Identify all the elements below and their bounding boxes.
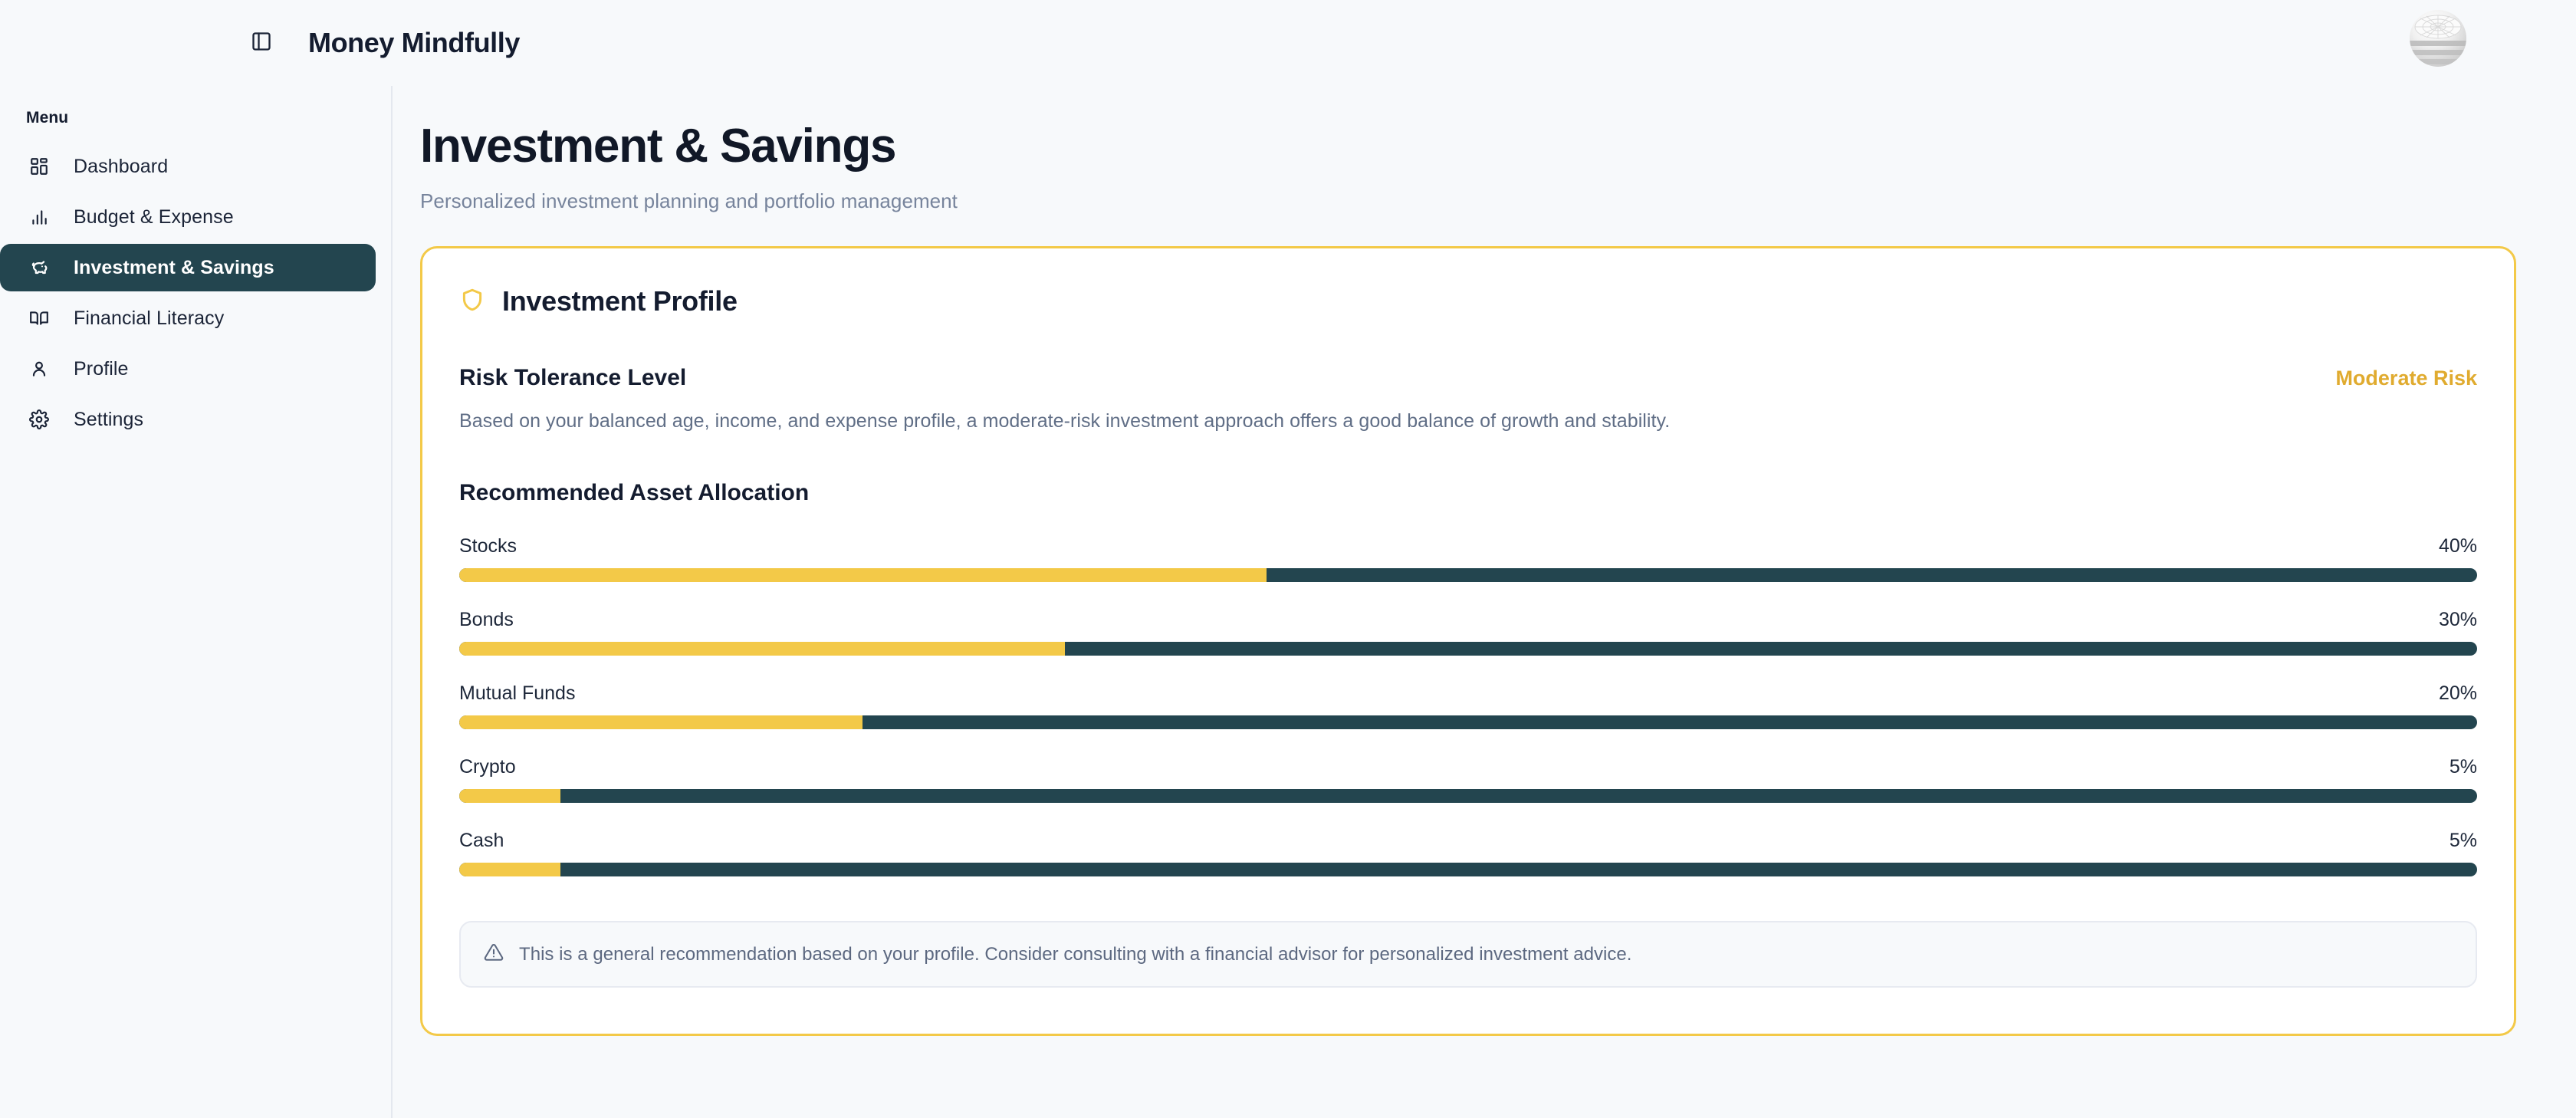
allocation-percent-value: 20% [2439,682,2477,705]
allocation-bar-fill [459,642,1065,656]
sidebar-item-profile[interactable]: Profile [0,345,376,393]
allocation-bar-track [459,568,2477,582]
allocation-asset-label: Cash [459,830,504,852]
sidebar-item-budget-expense[interactable]: Budget & Expense [0,193,376,241]
allocation-percent-value: 40% [2439,535,2477,557]
allocation-heading: Recommended Asset Allocation [459,480,2477,506]
sidebar-item-label: Settings [74,409,143,431]
disclaimer-note: This is a general recommendation based o… [459,921,2477,988]
risk-tolerance-row: Risk Tolerance Level Moderate Risk [459,365,2477,391]
sidebar: Menu Dashboard Budg [0,86,393,1118]
allocation-item: Bonds30% [459,609,2477,656]
allocation-item-header: Bonds30% [459,609,2477,631]
page-subtitle: Personalized investment planning and por… [420,189,2516,213]
sidebar-item-label: Dashboard [74,156,168,178]
sidebar-item-label: Investment & Savings [74,257,274,279]
sidebar-item-label: Budget & Expense [74,206,234,229]
allocation-percent-value: 5% [2449,756,2477,778]
allocation-bar-track [459,789,2477,803]
user-icon [26,356,52,382]
sidebar-panel-icon [251,31,272,56]
warning-triangle-icon [484,942,504,966]
allocation-bar-fill [459,568,1267,582]
card-title: Investment Profile [502,285,738,317]
allocation-item: Mutual Funds20% [459,682,2477,729]
allocation-item-header: Cash5% [459,830,2477,852]
allocation-bar-track [459,863,2477,876]
allocation-list: Stocks40%Bonds30%Mutual Funds20%Crypto5%… [459,535,2477,876]
sidebar-toggle-button[interactable] [244,25,279,61]
allocation-percent-value: 5% [2449,830,2477,852]
bar-chart-icon [26,204,52,230]
grid-icon [26,153,52,179]
sidebar-section-label: Menu [0,109,391,140]
allocation-item-header: Crypto5% [459,756,2477,778]
shield-icon [459,287,485,317]
allocation-percent-value: 30% [2439,609,2477,631]
allocation-item-header: Mutual Funds20% [459,682,2477,705]
page-layout: Menu Dashboard Budg [0,86,2576,1118]
sidebar-item-settings[interactable]: Settings [0,396,376,443]
risk-tolerance-description: Based on your balanced age, income, and … [459,410,2477,432]
risk-tolerance-heading: Risk Tolerance Level [459,365,686,391]
allocation-bar-fill [459,715,863,729]
app-title: Money Mindfully [308,27,520,59]
card-header: Investment Profile [459,279,2477,321]
allocation-item: Crypto5% [459,756,2477,803]
allocation-item: Cash5% [459,830,2477,876]
sidebar-item-dashboard[interactable]: Dashboard [0,143,376,190]
allocation-asset-label: Crypto [459,756,516,778]
user-avatar-image [2410,10,2466,67]
open-book-icon [26,305,52,331]
allocation-bar-fill [459,789,560,803]
risk-level-badge: Moderate Risk [2335,367,2477,390]
investment-profile-card: Investment Profile Risk Tolerance Level … [420,246,2516,1036]
allocation-bar-fill [459,863,560,876]
allocation-item-header: Stocks40% [459,535,2477,557]
allocation-asset-label: Bonds [459,609,514,631]
allocation-item: Stocks40% [459,535,2477,582]
main-content: Investment & Savings Personalized invest… [393,86,2576,1118]
sidebar-item-financial-literacy[interactable]: Financial Literacy [0,294,376,342]
gear-icon [26,406,52,432]
page-title: Investment & Savings [420,121,2516,171]
sidebar-item-label: Profile [74,358,129,380]
allocation-asset-label: Stocks [459,535,517,557]
allocation-bar-track [459,642,2477,656]
allocation-asset-label: Mutual Funds [459,682,575,705]
piggy-bank-icon [26,255,52,281]
avatar[interactable] [2410,10,2466,67]
sidebar-item-label: Financial Literacy [74,307,224,330]
allocation-bar-track [459,715,2477,729]
top-bar: Money Mindfully [0,0,2576,86]
sidebar-item-investment-savings[interactable]: Investment & Savings [0,244,376,291]
disclaimer-text: This is a general recommendation based o… [519,944,1632,965]
